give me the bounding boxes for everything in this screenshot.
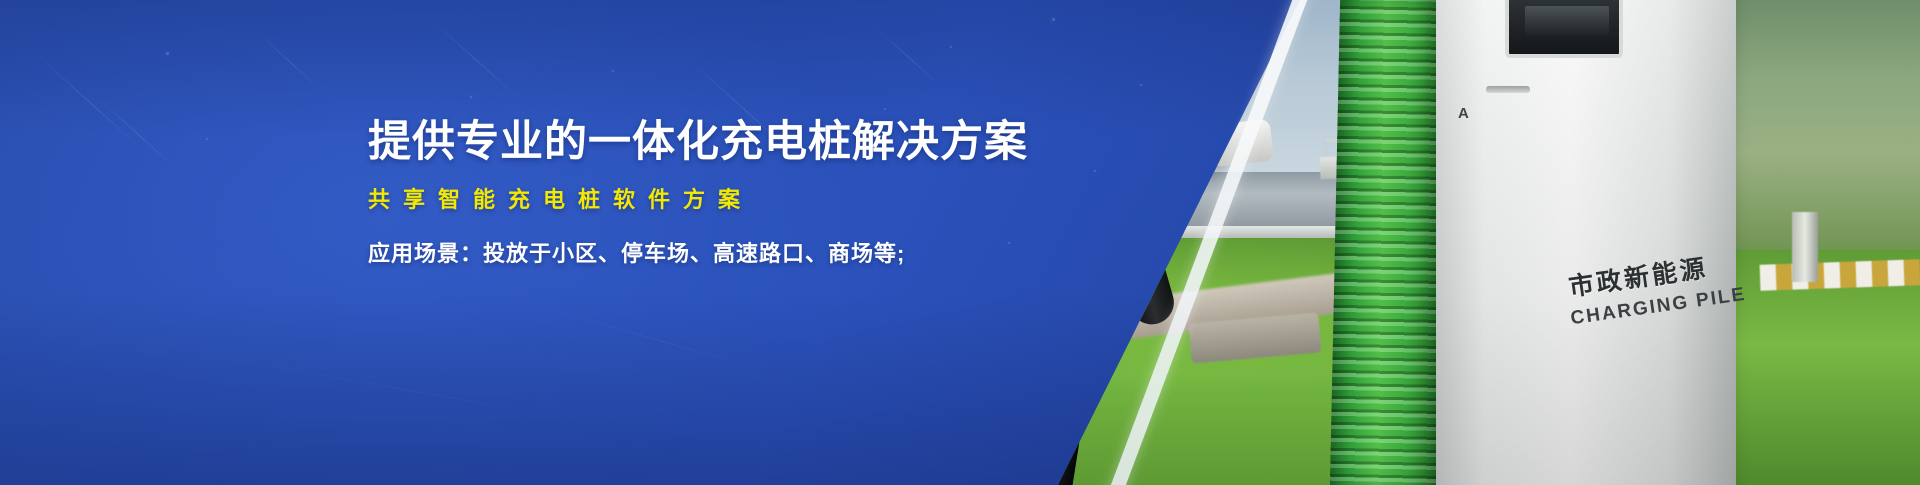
sparkle-dot (612, 70, 614, 72)
photo-right-foliage (1736, 0, 1920, 255)
charger-cabinet-shading (1436, 0, 1736, 485)
streak-line (870, 22, 945, 90)
sparkle-dot (166, 52, 169, 55)
charger-card-slot (1486, 86, 1530, 93)
streak-line (30, 48, 142, 149)
sparkle-dot (884, 108, 886, 110)
hero-headline: 提供专业的一体化充电桩解决方案 (368, 118, 1128, 166)
sparkle-dot (470, 96, 472, 98)
streak-line (95, 95, 177, 169)
sparkle-dot (206, 138, 208, 140)
photo-painted-kerb (1760, 259, 1920, 291)
photo-bollard (1792, 212, 1818, 282)
sparkle-dot (1052, 18, 1055, 21)
charger-display-inner (1525, 6, 1609, 36)
hero-copy: 提供专业的一体化充电桩解决方案 共享智能充电桩软件方案 应用场景：投放于小区、停… (368, 118, 1128, 268)
hero-subheadline: 共享智能充电桩软件方案 (368, 182, 1128, 214)
streak-line (520, 300, 770, 373)
sparkle-dot (950, 46, 952, 48)
hero-use-cases: 应用场景：投放于小区、停车场、高速路口、商场等; (368, 236, 1128, 268)
streak-line (255, 30, 323, 91)
hero-banner: A 市政新能源 CHARGING PILE 提供专业的一体化充电桩解决方案 共享… (0, 0, 1920, 485)
streak-line (240, 360, 555, 417)
charger-cabinet (1436, 0, 1736, 485)
streak-line (430, 18, 520, 99)
charger-display-screen (1505, 0, 1623, 58)
charger-port-label: A (1458, 105, 1469, 122)
sparkle-dot (1140, 84, 1142, 86)
